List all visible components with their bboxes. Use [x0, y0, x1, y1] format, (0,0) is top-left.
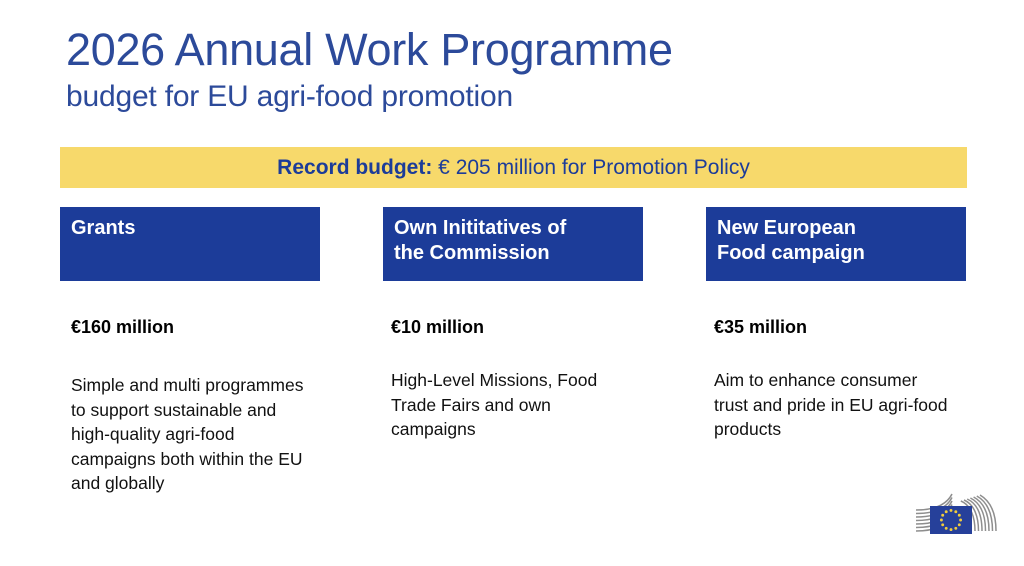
column-grants-amount: €160 million — [71, 316, 174, 338]
column-new-european-food-campaign-amount: €35 million — [714, 316, 807, 338]
column-grants-heading: Grants — [71, 216, 320, 241]
column-new-european-food-campaign: New European Food campaign €35 million A… — [706, 207, 966, 281]
title-block: 2026 Annual Work Programme budget for EU… — [66, 24, 926, 116]
slide-canvas: 2026 Annual Work Programme budget for EU… — [0, 0, 1024, 566]
page-subtitle: budget for EU agri-food promotion — [66, 78, 926, 116]
page-title: 2026 Annual Work Programme — [66, 24, 926, 76]
record-budget-label: Record budget: — [277, 156, 432, 179]
logo-eu-flag — [930, 506, 972, 534]
column-new-european-food-campaign-header: New European Food campaign — [706, 207, 966, 281]
column-grants-description: Simple and multi programmes to support s… — [71, 373, 313, 496]
column-new-european-food-campaign-heading: New European Food campaign — [717, 216, 966, 266]
record-budget-banner: Record budget: € 205 million for Promoti… — [60, 147, 967, 188]
column-own-initiatives: Own Inititatives of the Commission €10 m… — [383, 207, 643, 281]
column-new-european-food-campaign-description: Aim to enhance consumer trust and pride … — [714, 368, 956, 442]
column-grants: Grants €160 million Simple and multi pro… — [60, 207, 320, 281]
column-own-initiatives-amount: €10 million — [391, 316, 484, 338]
record-budget-value: € 205 million for Promotion Policy — [432, 156, 749, 179]
european-commission-logo — [908, 491, 1004, 547]
column-grants-header: Grants — [60, 207, 320, 281]
record-budget-banner-text: Record budget: € 205 million for Promoti… — [277, 156, 750, 180]
column-own-initiatives-description: High-Level Missions, Food Trade Fairs an… — [391, 368, 633, 442]
column-own-initiatives-header: Own Inititatives of the Commission — [383, 207, 643, 281]
column-own-initiatives-heading: Own Inititatives of the Commission — [394, 216, 643, 266]
